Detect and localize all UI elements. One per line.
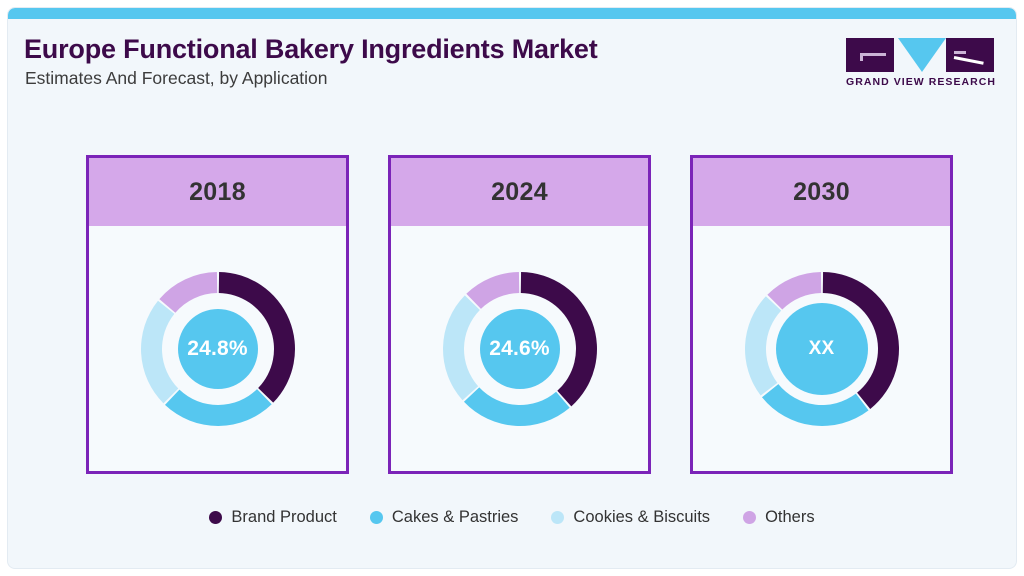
page-title: Europe Functional Bakery Ingredients Mar…	[24, 34, 598, 65]
card-header-2018: 2018	[89, 158, 346, 226]
card-header-2030: 2030	[693, 158, 950, 226]
donut-segment	[466, 272, 519, 309]
legend-dot-icon	[209, 511, 222, 524]
legend-item: Others	[743, 508, 815, 527]
legend-label: Others	[765, 508, 815, 527]
legend-label: Cookies & Biscuits	[573, 508, 710, 527]
legend-dot-icon	[370, 511, 383, 524]
donut-chart-2024: 24.6%	[441, 270, 599, 428]
donut-segment	[159, 272, 217, 313]
card-body-2018: 24.8%	[89, 226, 346, 471]
donut-chart-2030: XX	[743, 270, 901, 428]
card-body-2030: XX	[693, 226, 950, 471]
logo-g-block-icon	[846, 38, 894, 72]
legend: Brand Product Cakes & Pastries Cookies &…	[8, 508, 1016, 527]
logo-g-bar	[860, 53, 886, 56]
donut-segment	[443, 295, 480, 400]
page-subtitle: Estimates And Forecast, by Application	[25, 68, 328, 89]
legend-label: Brand Product	[231, 508, 336, 527]
legend-dot-icon	[743, 511, 756, 524]
top-accent-bar	[8, 8, 1016, 19]
legend-dot-icon	[551, 511, 564, 524]
chart-card-2030: 2030 XX	[690, 155, 953, 474]
donut-center-value: 24.8%	[187, 337, 248, 361]
card-year-label: 2024	[491, 178, 548, 207]
card-year-label: 2030	[793, 178, 850, 207]
donut-segment	[463, 387, 569, 426]
card-header-2024: 2024	[391, 158, 648, 226]
logo-marks	[846, 38, 994, 72]
infographic-page: Europe Functional Bakery Ingredients Mar…	[8, 8, 1016, 568]
legend-item: Brand Product	[209, 508, 336, 527]
logo-wordmark: GRAND VIEW RESEARCH	[846, 76, 994, 88]
logo-triangle-icon	[898, 38, 946, 72]
legend-label: Cakes & Pastries	[392, 508, 519, 527]
logo-r-bar	[954, 56, 984, 65]
donut-center-circle: 24.6%	[480, 309, 560, 389]
grand-view-research-logo: GRAND VIEW RESEARCH	[846, 38, 994, 90]
logo-r-tick	[954, 51, 966, 54]
donut-center-value: 24.6%	[489, 337, 550, 361]
chart-card-2024: 2024 24.6%	[388, 155, 651, 474]
card-body-2024: 24.6%	[391, 226, 648, 471]
logo-r-block-icon	[946, 38, 994, 72]
legend-item: Cookies & Biscuits	[551, 508, 710, 527]
card-year-label: 2018	[189, 178, 246, 207]
legend-item: Cakes & Pastries	[370, 508, 519, 527]
donut-chart-2018: 24.8%	[139, 270, 297, 428]
chart-card-2018: 2018 24.8%	[86, 155, 349, 474]
logo-g-stem	[860, 53, 863, 61]
donut-center-circle: XX	[776, 303, 868, 395]
header: Europe Functional Bakery Ingredients Mar…	[8, 19, 1016, 109]
donut-center-circle: 24.8%	[178, 309, 258, 389]
donut-segment	[141, 300, 178, 403]
donut-center-value: XX	[809, 338, 835, 360]
donut-segment	[164, 389, 271, 426]
